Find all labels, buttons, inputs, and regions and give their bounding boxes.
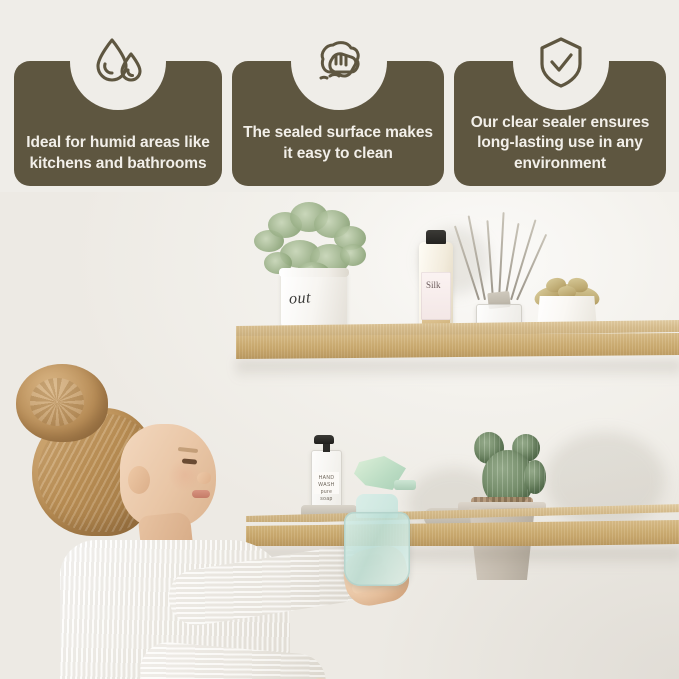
pot-rim (279, 268, 349, 277)
water-drops-icon-badge (70, 14, 166, 110)
pot-script-label: out (289, 289, 312, 308)
feature-card-text: Ideal for humid areas like kitchens and … (22, 133, 214, 174)
hair-bun (16, 364, 108, 442)
diffuser-reed (498, 212, 505, 300)
hand-wiping-cloth-icon-badge (291, 14, 387, 110)
ear (128, 466, 150, 494)
product-photo: out Silk (0, 192, 679, 679)
diffuser-reed (504, 223, 520, 300)
feature-card-text: The sealed surface makes it easy to clea… (240, 123, 436, 164)
cactus-plant (468, 424, 548, 508)
product-infographic: Ideal for humid areas like kitchens and … (0, 0, 679, 679)
spray-bottle (334, 454, 418, 588)
lips (192, 490, 210, 498)
nose (197, 472, 211, 484)
diffuser-reed (486, 220, 494, 300)
bottle-label: Silk (421, 272, 451, 320)
feature-card-row: Ideal for humid areas like kitchens and … (0, 0, 679, 192)
diffuser-reed (468, 215, 486, 300)
shelf-front-edge (236, 333, 679, 359)
spray-nozzle (394, 480, 416, 490)
bottle-body (344, 512, 410, 586)
shield-check-icon-badge (513, 14, 609, 110)
feature-card-text: Our clear sealer ensures long-lasting us… (462, 113, 658, 175)
wood-grain (236, 333, 679, 359)
bottle-cap (426, 230, 446, 244)
